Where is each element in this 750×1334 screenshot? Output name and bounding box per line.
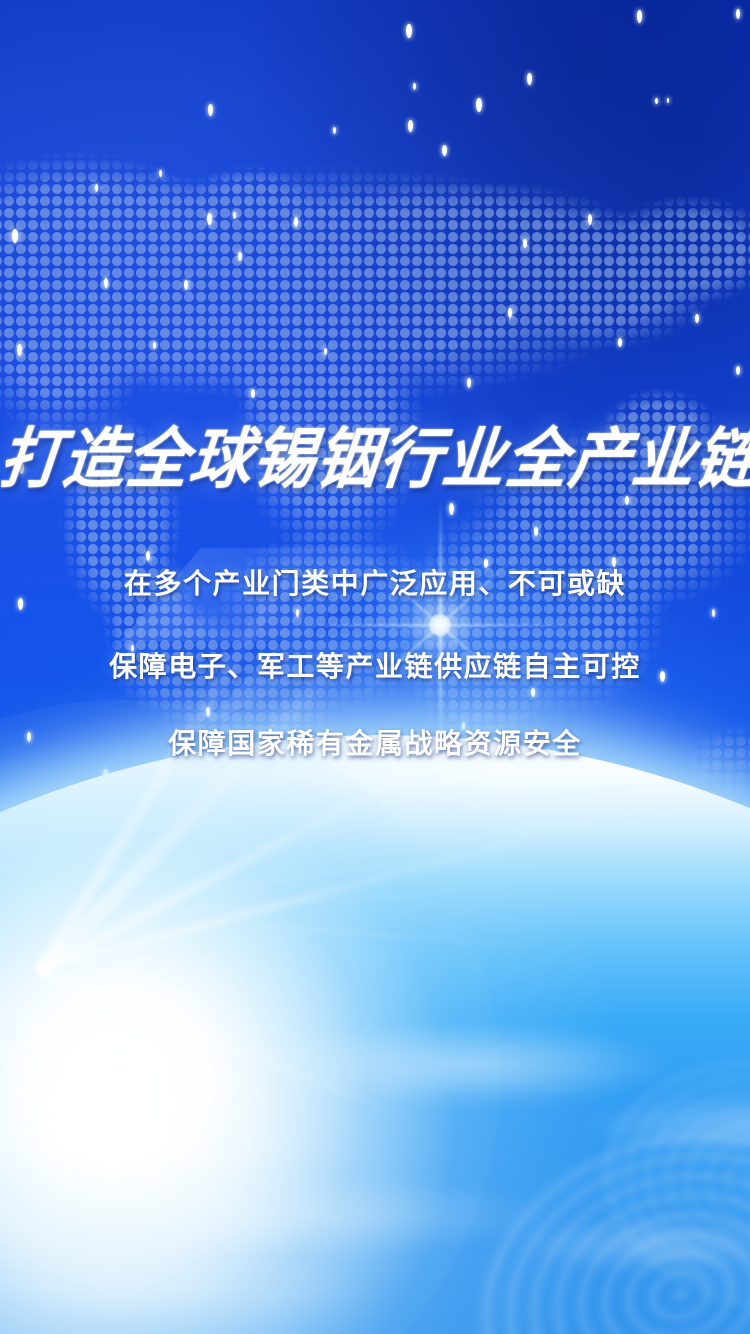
poster-subtitle-1: 在多个产业门类中广泛应用、不可或缺	[0, 562, 750, 602]
poster-subtitle-3: 保障国家稀有金属战略资源安全	[0, 722, 750, 762]
poster-title: 打造全球锡铟行业全产业链链主	[0, 422, 750, 496]
poster-subtitle-2: 保障电子、军工等产业链供应链自主可控	[0, 645, 750, 685]
poster-canvas: 打造全球锡铟行业全产业链链主 在多个产业门类中广泛应用、不可或缺 保障电子、军工…	[0, 0, 750, 1334]
